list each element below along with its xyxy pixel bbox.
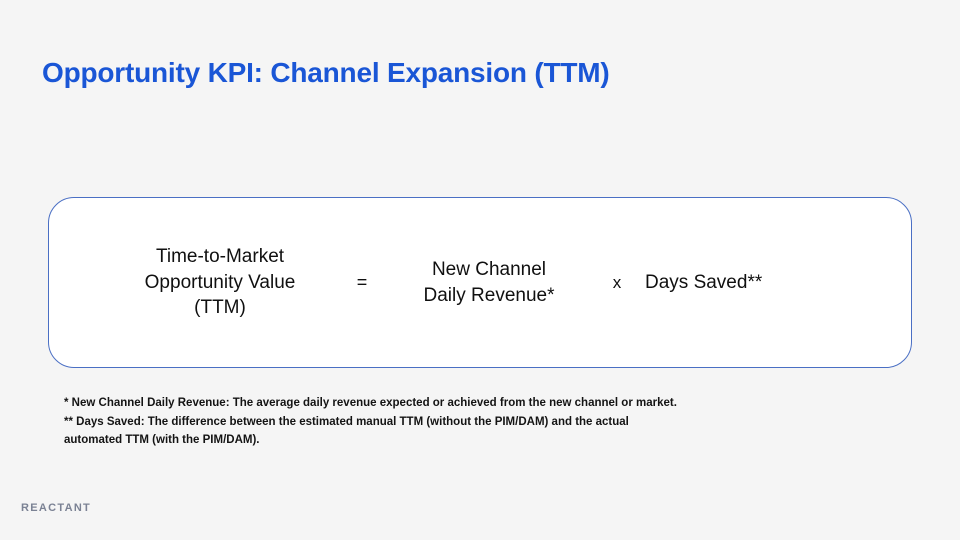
slide-title: Opportunity KPI: Channel Expansion (TTM) (42, 57, 610, 89)
formula-right-term: Days Saved** (645, 270, 762, 296)
formula-card: Time-to-Market Opportunity Value (TTM) =… (48, 197, 912, 368)
middle-term-line-2: Daily Revenue* (389, 283, 589, 309)
left-term-line-2: Opportunity Value (105, 270, 335, 296)
multiply-operator: x (589, 273, 645, 293)
footnote-line-1: * New Channel Daily Revenue: The average… (64, 394, 954, 413)
reactant-logo: REACTANT (21, 502, 91, 514)
left-term-line-3: (TTM) (105, 295, 335, 321)
footnote-line-3: automated TTM (with the PIM/DAM). (64, 431, 954, 450)
equals-operator: = (335, 272, 389, 293)
footnote-line-2: ** Days Saved: The difference between th… (64, 413, 954, 432)
left-term-line-1: Time-to-Market (105, 244, 335, 270)
formula-row: Time-to-Market Opportunity Value (TTM) =… (49, 198, 911, 367)
formula-middle-term: New Channel Daily Revenue* (389, 257, 589, 308)
formula-left-term: Time-to-Market Opportunity Value (TTM) (105, 244, 335, 321)
footnotes: * New Channel Daily Revenue: The average… (64, 394, 954, 450)
middle-term-line-1: New Channel (389, 257, 589, 283)
